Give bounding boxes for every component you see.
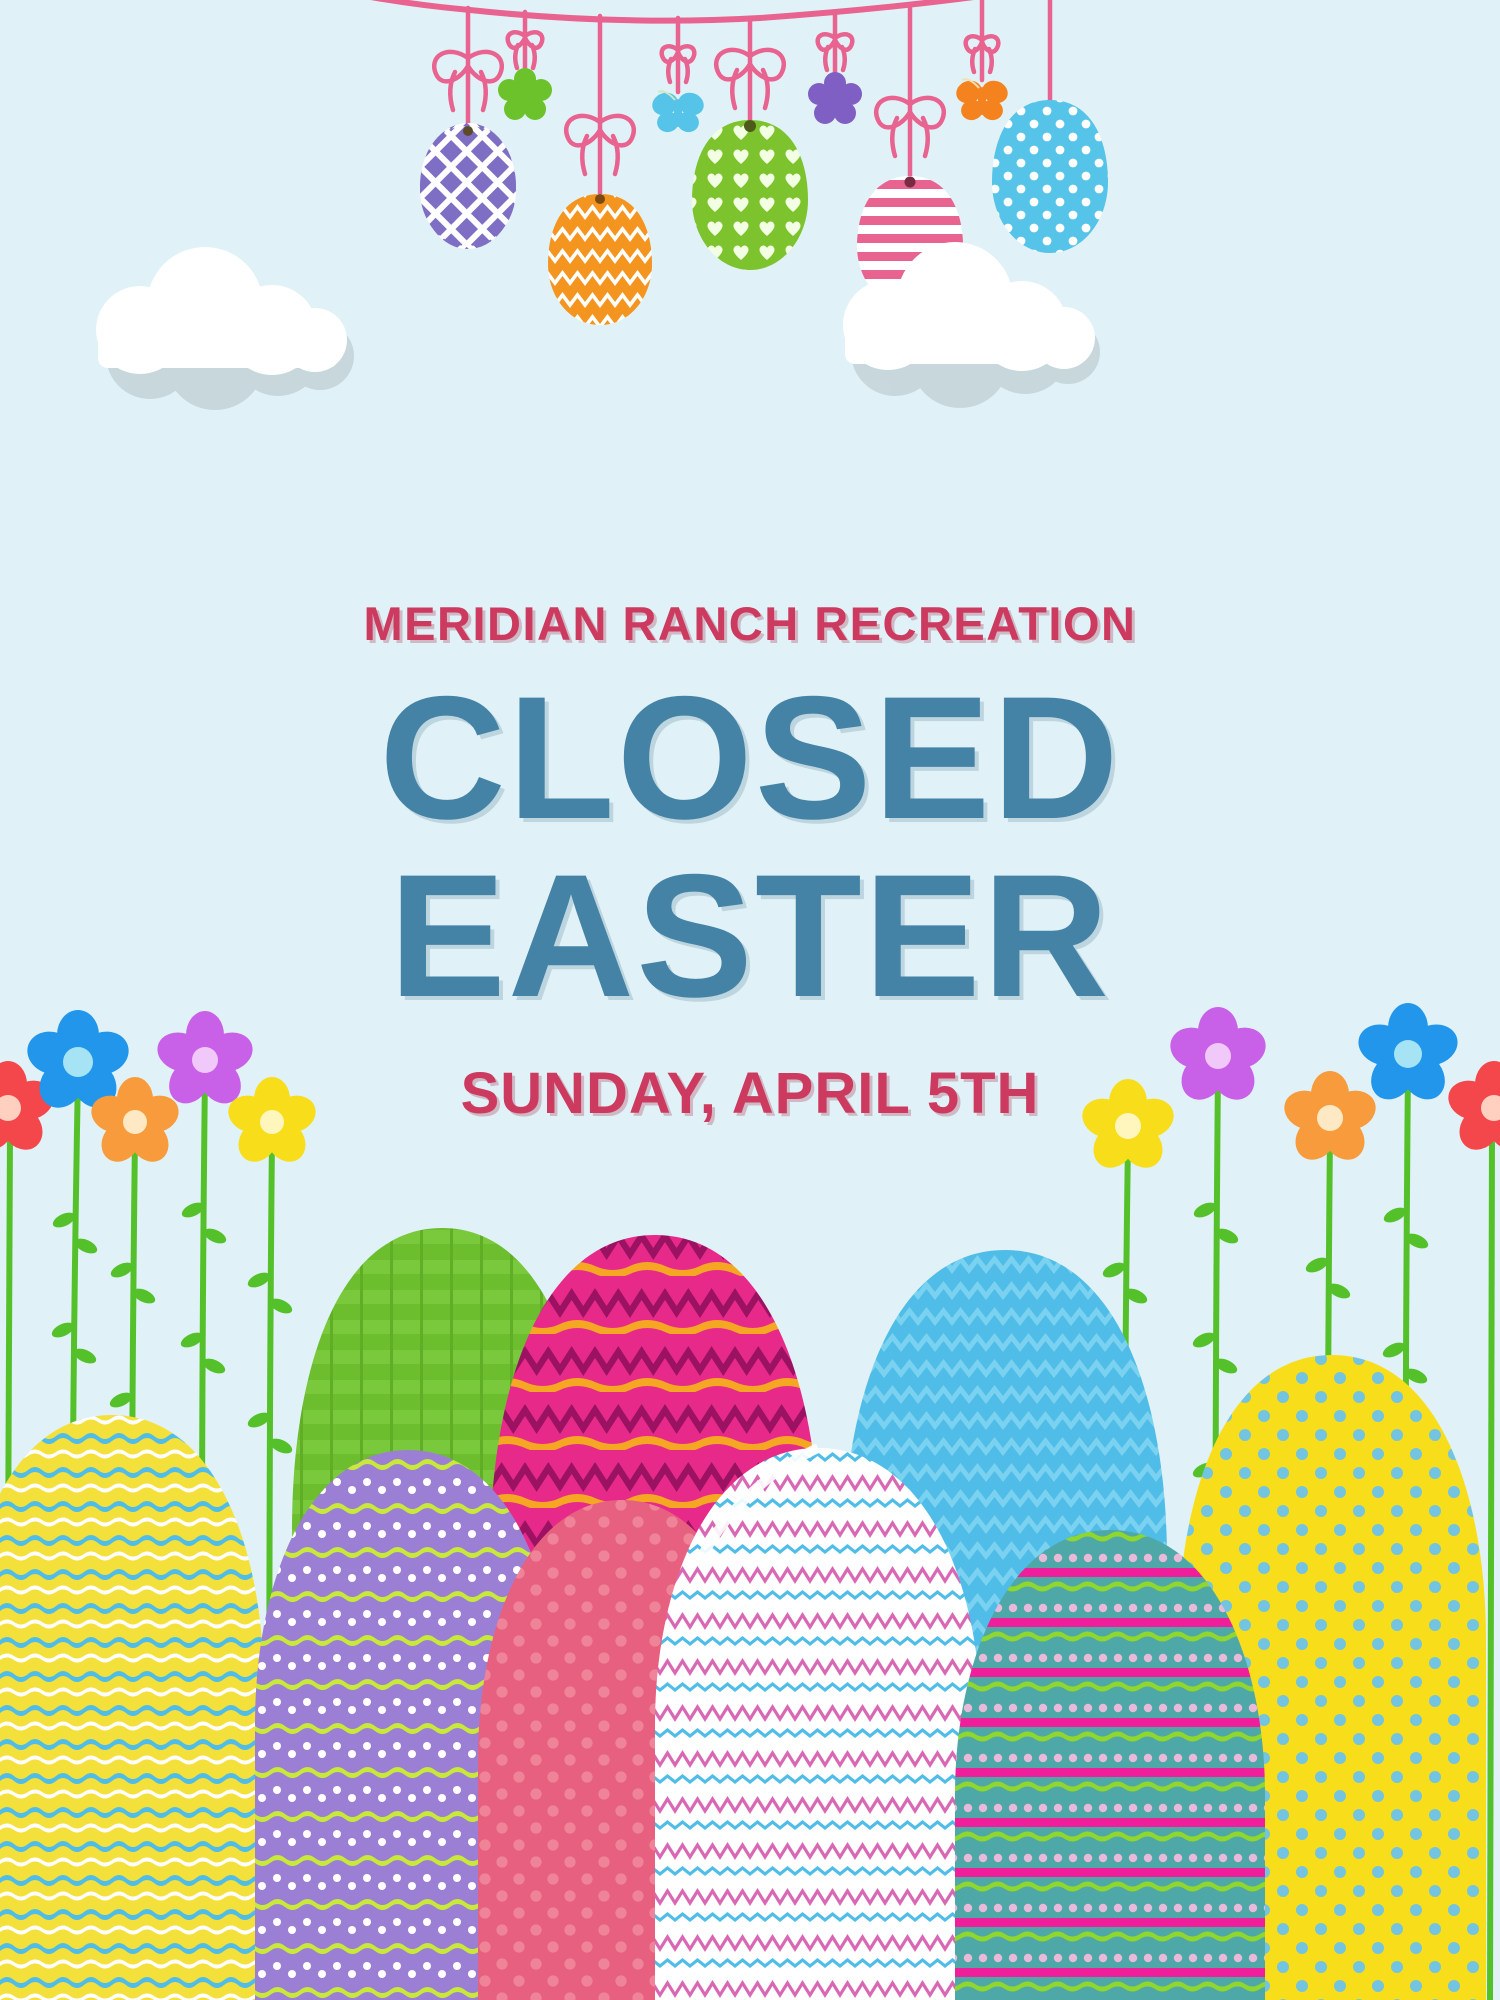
closure-date: SUNDAY, APRIL 5TH (0, 1065, 1500, 1123)
easter-closed-poster: MERIDIAN RANCH RECREATION CLOSED EASTER … (0, 0, 1500, 2000)
egg-teal-banded (955, 1530, 1265, 2000)
poster-text-block: MERIDIAN RANCH RECREATION CLOSED EASTER … (0, 600, 1500, 1123)
organization-name: MERIDIAN RANCH RECREATION (0, 600, 1500, 647)
egg-white-zigzag (655, 1448, 981, 2000)
egg-yellow-wave-left (0, 1415, 264, 2000)
headline-easter: EASTER (0, 853, 1500, 1021)
headline-closed: CLOSED (0, 675, 1500, 843)
